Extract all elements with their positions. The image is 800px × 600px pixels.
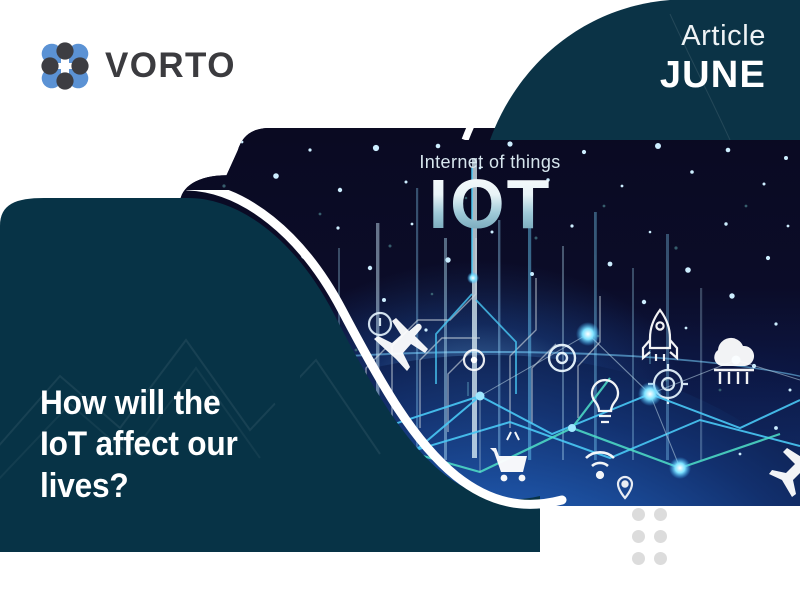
grid-dot (632, 552, 645, 565)
vorto-quatrefoil-logo-icon (38, 40, 92, 92)
brand-name: VORTO (105, 46, 236, 86)
headline-line-2: IoT affect our (40, 424, 291, 465)
article-kicker: Article (660, 22, 766, 51)
grid-dot (654, 530, 667, 543)
issue-month: JUNE (660, 56, 766, 94)
dot-grid-decoration (632, 508, 670, 568)
grid-dot (632, 530, 645, 543)
headline-line-1: How will the (40, 383, 291, 424)
header-text-block: Article JUNE (660, 22, 766, 94)
slide-canvas: Article JUNE VORTO (0, 0, 800, 600)
headline-line-3: lives? (40, 466, 291, 507)
brand-logo[interactable]: VORTO (38, 40, 236, 92)
grid-dot (654, 552, 667, 565)
grid-dot (632, 508, 645, 521)
page-title: How will the IoT affect our lives? (40, 383, 291, 507)
grid-dot (654, 508, 667, 521)
